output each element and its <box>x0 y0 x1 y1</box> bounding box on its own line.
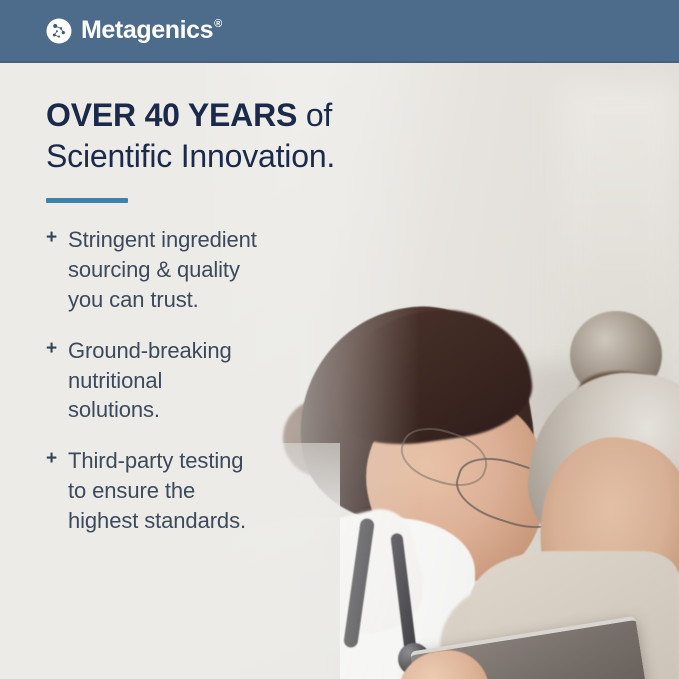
tablet-device <box>410 616 654 679</box>
clinician-glasses-left-lens <box>394 419 494 496</box>
brand-logo-lockup[interactable]: Metagenics® <box>46 18 222 44</box>
clinician-face <box>353 379 561 597</box>
brand-header-bar: Metagenics® <box>0 0 679 63</box>
clinician-hand <box>392 645 496 679</box>
list-item-line: Stringent ingredient <box>68 225 257 255</box>
plus-icon: + <box>46 225 68 251</box>
list-item-line: solutions. <box>68 395 232 425</box>
promo-banner: Metagenics® OVER 40 YEARS ofScientific I… <box>0 0 679 679</box>
patient-hair-wrap <box>578 371 662 411</box>
photo-window-light <box>560 83 679 413</box>
list-item: + Stringent ingredient sourcing & qualit… <box>46 225 376 315</box>
accent-divider <box>46 198 128 203</box>
brand-wordmark-text: Metagenics <box>81 16 213 44</box>
list-item-line: Third-party testing <box>68 446 246 476</box>
headline-light: of <box>297 97 332 133</box>
benefit-list: + Stringent ingredient sourcing & qualit… <box>46 225 376 536</box>
stethoscope-tube-right <box>390 533 418 662</box>
headline-line-2: Scientific Innovation. <box>46 136 376 177</box>
page-title: OVER 40 YEARS ofScientific Innovation. <box>46 95 376 177</box>
list-item-line: sourcing & quality <box>68 255 257 285</box>
brand-wordmark: Metagenics® <box>81 18 222 43</box>
list-item-text: Ground-breaking nutritional solutions. <box>68 336 232 426</box>
list-item-text: Third-party testing to ensure the highes… <box>68 446 246 536</box>
list-item-text: Stringent ingredient sourcing & quality … <box>68 225 257 315</box>
patient-sweater <box>470 551 679 679</box>
list-item: + Ground-breaking nutritional solutions. <box>46 336 376 426</box>
patient-hair-bun <box>570 311 662 399</box>
patient-face <box>526 427 679 638</box>
brand-trademark-symbol: ® <box>214 18 222 30</box>
patient-hair <box>521 363 679 572</box>
list-item: + Third-party testing to ensure the high… <box>46 446 376 536</box>
list-item-line: Ground-breaking <box>68 336 232 366</box>
clinician-glasses-right-lens <box>449 447 576 539</box>
marketing-copy: OVER 40 YEARS ofScientific Innovation. +… <box>46 95 376 557</box>
list-item-line: highest standards. <box>68 506 246 536</box>
stethoscope-bell <box>398 643 430 675</box>
list-item-line: you can trust. <box>68 285 257 315</box>
plus-icon: + <box>46 336 68 362</box>
headline-strong: OVER 40 YEARS <box>46 97 297 133</box>
list-item-line: to ensure the <box>68 476 246 506</box>
plus-icon: + <box>46 446 68 472</box>
list-item-line: nutritional <box>68 366 232 396</box>
patient-shoulder <box>440 583 560 679</box>
photo-wall-shadow <box>470 363 679 679</box>
metagenics-circle-molecule-icon <box>46 18 72 44</box>
